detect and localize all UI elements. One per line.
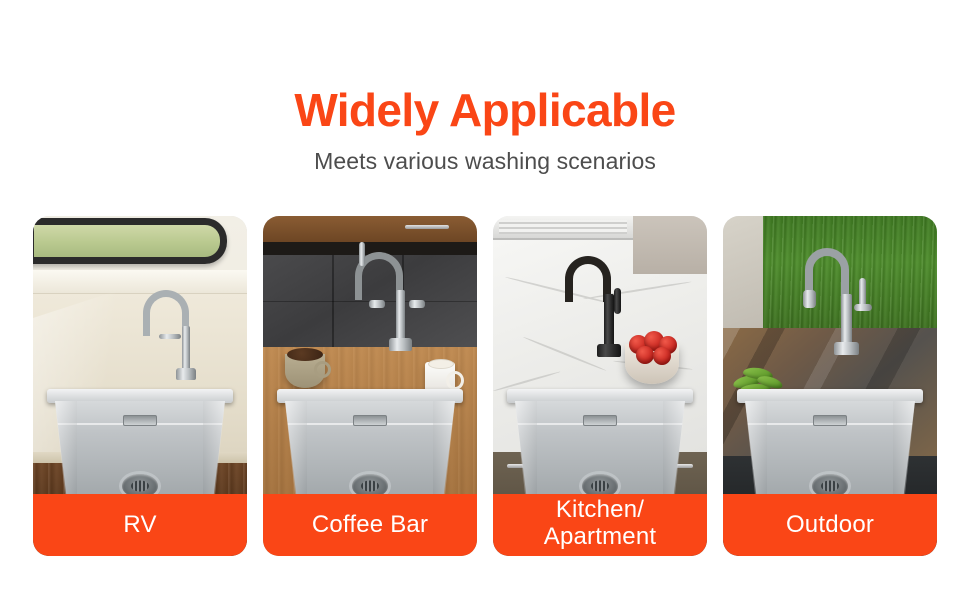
card-label-text: Outdoor — [786, 512, 874, 539]
header: Widely Applicable Meets various washing … — [0, 0, 970, 175]
page-subtitle: Meets various washing scenarios — [0, 148, 970, 175]
scenario-card-rv[interactable]: RV — [33, 216, 247, 556]
rv-window — [33, 218, 227, 264]
card-label-kitchen-apartment: Kitchen/ Apartment — [493, 494, 707, 556]
scenario-card-grid: RV — [33, 216, 937, 556]
card-label-text-line2: Apartment — [544, 523, 657, 550]
scenario-card-coffee-bar[interactable]: Coffee Bar — [263, 216, 477, 556]
scenario-card-kitchen-apartment[interactable]: Kitchen/ Apartment — [493, 216, 707, 556]
card-label-outdoor: Outdoor — [723, 494, 937, 556]
sink-overflow-slot — [353, 415, 387, 426]
sink-overflow-slot — [813, 415, 847, 426]
upper-cabinet — [263, 216, 477, 242]
scenario-card-outdoor[interactable]: Outdoor — [723, 216, 937, 556]
window-blinds — [493, 216, 633, 240]
card-label-rv: RV — [33, 494, 247, 556]
card-label-text: Coffee Bar — [312, 512, 428, 539]
promo-banner: Widely Applicable Meets various washing … — [0, 0, 970, 600]
upper-cabinet — [633, 216, 707, 274]
card-label-coffee-bar: Coffee Bar — [263, 494, 477, 556]
card-label-text-line1: Kitchen/ — [556, 496, 644, 523]
card-label-text: RV — [123, 512, 156, 539]
tomato-bowl — [625, 344, 679, 384]
page-title: Widely Applicable — [0, 86, 970, 134]
sink-overflow-slot — [123, 415, 157, 426]
coffee-bean-bowl — [285, 354, 325, 388]
sink-overflow-slot — [583, 415, 617, 426]
